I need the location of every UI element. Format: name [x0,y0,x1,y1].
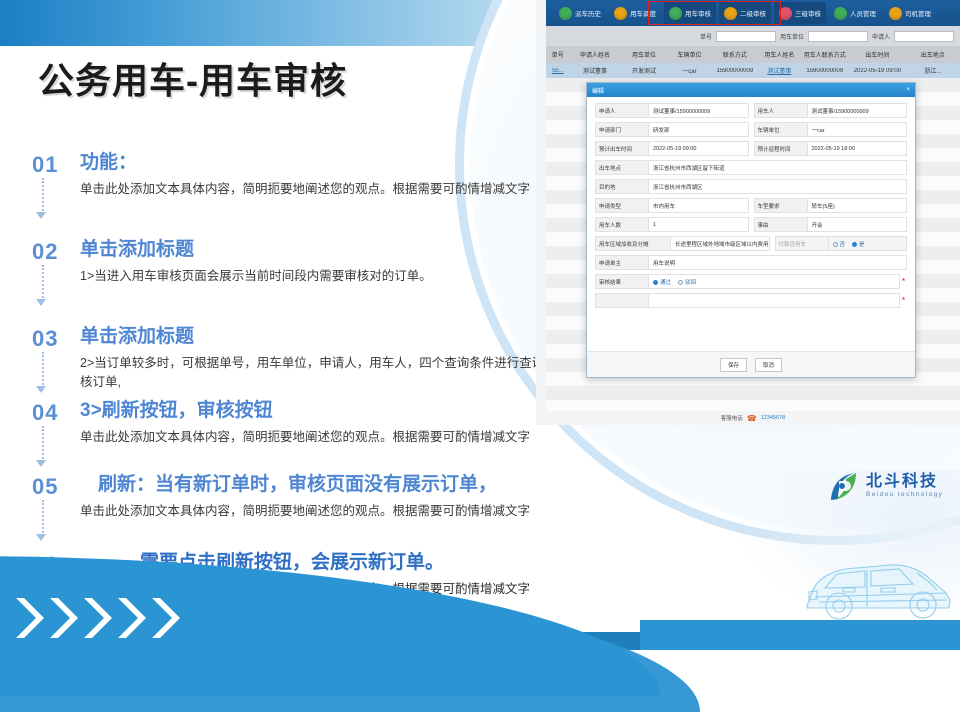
chevron-decoration [14,592,214,644]
field-label: 用车区域加收及分摊 [595,236,671,251]
bullet-connector [42,352,44,388]
bullet-arrow-icon [36,534,46,541]
field-label: 付款否用车 [775,236,829,251]
field-label: 申请类型 [595,198,649,213]
brand-logo: 北斗科技 Beidou technology [826,465,956,507]
table-cell-order-no[interactable]: 5b... [546,68,570,74]
table-cell-depart-time: 2022-05-19 09:00 [849,68,905,74]
table-header-row: 单号 申请人姓名 用车单位 车辆单位 联系方式 用车人姓名 用车人联系方式 出车… [546,46,960,63]
nav-label: 司机管理 [905,8,931,18]
bullet-connector [42,500,44,536]
form-row: 目的地 浙江省杭州市西湖区 [595,179,907,194]
form-row: * [595,293,907,308]
cancel-button[interactable]: 取消 [755,358,782,372]
field-label [595,293,649,308]
bullet-connector [42,426,44,462]
form-row: 用车区域加收及分摊 长途里程区域外地域市级区域以内费用 付款否用车 否 是 [595,236,907,251]
bullet-number: 03 [32,326,58,352]
field-value[interactable]: 2022-05-19 18:00 [808,141,908,156]
table-cell-depart-place: 浙江... [906,66,960,75]
field-value[interactable]: 用车说明 [649,255,907,270]
table-cell-applicant: 测试董事 [570,66,621,75]
page-title: 公务用车-用车审核 [38,52,347,104]
bullet-connector [42,265,44,301]
form-row: 预计出车时间 2022-05-19 09:00 预计返程时间 2022-05-1… [595,141,907,156]
table-cell-unit: 开发测试 [620,66,667,75]
bullet-number: 04 [32,400,58,426]
form-row: 出车地点 浙江省杭州市西湖区留下街道 [595,160,907,175]
bullet-connector [42,178,44,214]
field-value[interactable]: 1 [649,217,749,232]
nav-item-staff-management[interactable]: 人员管理 [829,2,881,24]
field-value[interactable]: 长途里程区域外地域市级区域以内费用 [671,236,770,251]
nav-item-level3-audit[interactable]: 三级审核 [774,2,826,24]
list-item: 04 3>刷新按钮，审核按钮 单击此处添加文本具体内容，简明扼要地阐述您的观点。… [22,400,542,447]
filter-input-applicant[interactable] [894,31,954,42]
field-paid-use: 付款否用车 否 是 [775,236,907,251]
list-item: 05 刷新：当有新订单时，审核页面没有展示订单， 单击此处添加文本具体内容，简明… [22,474,542,521]
list-icon [614,7,627,20]
field-remark: * [595,293,907,308]
list-item: 02 单击添加标题 1>当进入用车审核页面会展示当前时间段内需要审核对的订单。 [22,239,542,286]
nav-item-dispatch-history[interactable]: 派车历史 [554,2,606,24]
table-cell-passenger: 测试董事 [758,66,800,75]
footer-phone: 12345678 [761,415,785,421]
form-row: 用车人数 1 事由 开会 [595,217,907,232]
field-value[interactable]: 开会 [808,217,908,232]
logo-mark-icon [826,469,860,503]
field-label: 事由 [754,217,808,232]
field-label: 审核结果 [595,274,649,289]
table-row[interactable]: 5b... 测试董事 开发测试 一car 15900000009 测试董事 15… [546,63,960,78]
field-label: 申请单主 [595,255,649,270]
field-return-time: 预计返程时间 2022-05-19 18:00 [754,141,908,156]
form-row: 审核结果 通过 驳回 * [595,274,907,289]
nav-label: 三级审核 [795,8,821,18]
field-value[interactable]: 一car [808,122,908,137]
nav-label: 人员管理 [850,8,876,18]
field-applicant: 申请人 测试董事/15900000009 [595,103,749,118]
save-button[interactable]: 保存 [720,358,747,372]
bottom-right-accent [640,620,960,650]
dialog-footer: 保存 取消 [587,351,915,377]
field-department: 申请部门 研发部 [595,122,749,137]
bullet-body: 单击此处添加文本具体内容，简明扼要地阐述您的观点。根据需要可酌情增减文字 [80,502,542,521]
bullet-arrow-icon [36,386,46,393]
table-header-cell: 用车人姓名 [758,50,800,59]
bullet-heading: 功能： [80,152,542,174]
table-cell-vehicle-unit: 一car [668,66,712,75]
field-vehicle-type: 车型要求 轿车(5座) [754,198,908,213]
field-value[interactable]: 研发部 [649,122,749,137]
car-illustration [795,540,960,632]
field-passenger: 用车人 测试董事/15900000009 [754,103,908,118]
field-radio-group[interactable]: 否 是 [829,236,907,251]
field-radio-group[interactable]: 通过 驳回 [649,274,900,289]
filter-input-order-no[interactable] [716,31,776,42]
field-depart-place: 出车地点 浙江省杭州市西湖区留下街道 [595,160,907,175]
filter-label-unit: 用车单位 [780,32,804,41]
field-area-allocation: 用车区域加收及分摊 长途里程区域外地域市级区域以内费用 [595,236,770,251]
field-label: 申请人 [595,103,649,118]
phone-icon: ☎ [747,414,757,423]
logo-text-cn: 北斗科技 [866,474,943,491]
field-value[interactable]: 浙江省杭州市西湖区留下街道 [649,160,907,175]
field-label: 用车人 [754,103,808,118]
table-header-cell: 车辆单位 [668,50,712,59]
dialog-title-bar: 编辑 × [587,83,915,97]
field-label: 目的地 [595,179,649,194]
footer-text: 客服电话 [721,414,743,422]
field-passenger-count: 用车人数 1 [595,217,749,232]
table-header-cell: 单号 [546,50,570,59]
nav-label: 派车历史 [575,8,601,18]
field-label: 预计出车时间 [595,141,649,156]
filter-label-applicant: 申请人 [872,32,890,41]
bullet-number: 02 [32,239,58,265]
field-destination: 目的地 浙江省杭州市西湖区 [595,179,907,194]
field-label: 车型要求 [754,198,808,213]
required-marker: * [900,293,907,308]
field-value[interactable]: 测试董事/15900000009 [808,103,908,118]
field-label: 预计返程时间 [754,141,808,156]
bullet-body: 2>当订单较多时，可根据单号，用车单位，申请人，用车人，四个查询条件进行查询审核… [80,354,562,393]
table-cell-contact: 15900000009 [711,68,758,74]
bullet-heading: 3>刷新按钮，审核按钮 [80,400,542,422]
edit-dialog: 编辑 × 申请人 测试董事/15900000009 用车人 测试董事/15900… [586,82,916,378]
logo-text-en: Beidou technology [866,491,943,498]
field-audit-result: 审核结果 通过 驳回 * [595,274,907,289]
radio-pass[interactable]: 通过 [653,278,671,286]
app-footer: 客服电话 ☎ 12345678 [546,411,960,425]
nav-item-driver-management[interactable]: 司机管理 [884,2,936,24]
table-header-cell: 用车人联系方式 [800,50,849,59]
field-label: 申请部门 [595,122,649,137]
form-row: 申请人 测试董事/15900000009 用车人 测试董事/1590000000… [595,103,907,118]
list-item: 03 单击添加标题 2>当订单较多时，可根据单号，用车单位，申请人，用车人，四个… [22,326,562,393]
field-vehicle-unit: 车辆单位 一car [754,122,908,137]
driver-icon [889,7,902,20]
table-header-cell: 出车时间 [849,50,905,59]
field-apply-type: 申请类型 市内用车 [595,198,749,213]
bullet-arrow-icon [36,212,46,219]
required-marker: * [900,274,907,289]
table-cell-passenger-contact: 15900000009 [800,68,849,74]
radio-no[interactable]: 否 [833,240,846,248]
form-row: 申请部门 研发部 车辆单位 一car [595,122,907,137]
dialog-body: 申请人 测试董事/15900000009 用车人 测试董事/1590000000… [587,97,915,308]
form-row: 申请单主 用车说明 [595,255,907,270]
bus-icon [559,7,572,20]
form-row: 申请类型 市内用车 车型要求 轿车(5座) [595,198,907,213]
close-icon[interactable]: × [906,87,910,93]
table-header-cell: 联系方式 [711,50,758,59]
bullet-number: 05 [32,474,58,500]
field-label: 出车地点 [595,160,649,175]
field-depart-time: 预计出车时间 2022-05-19 09:00 [595,141,749,156]
field-label: 用车人数 [595,217,649,232]
app-screenshot-panel: 派车历史 用车调度 用车审核 二级审核 三级审核 人员管理 [536,0,960,425]
bullet-arrow-icon [36,299,46,306]
bullet-arrow-icon [36,460,46,467]
radio-reject[interactable]: 驳回 [678,278,696,286]
bullet-heading: 单击添加标题 [80,239,542,261]
table-header-cell: 申请人姓名 [570,50,621,59]
bullet-body: 1>当进入用车审核页面会展示当前时间段内需要审核对的订单。 [80,267,542,286]
list-item: 01 功能： 单击此处添加文本具体内容，简明扼要地阐述您的观点。根据需要可酌情增… [22,152,542,199]
field-reason: 事由 开会 [754,217,908,232]
field-application-note: 申请单主 用车说明 [595,255,907,270]
filter-input-unit[interactable] [808,31,868,42]
user-icon [834,7,847,20]
table-header-cell: 用车单位 [620,50,667,59]
bullet-heading: 刷新：当有新订单时，审核页面没有展示订单， [80,474,542,496]
radio-yes[interactable]: 是 [852,240,865,248]
bullet-body: 单击此处添加文本具体内容，简明扼要地阐述您的观点。根据需要可酌情增减文字 [80,180,542,199]
dialog-title: 编辑 [592,86,604,95]
field-label: 车辆单位 [754,122,808,137]
filter-label-order-no: 单号 [700,32,712,41]
field-value[interactable] [649,293,900,308]
filter-bar: 单号 用车单位 申请人 [546,26,960,46]
table-header-cell: 出车地点 [906,50,960,59]
bullet-number: 01 [32,152,58,178]
highlight-annotation-box [648,1,781,25]
field-value[interactable]: 测试董事/15900000009 [649,103,749,118]
field-value[interactable]: 浙江省杭州市西湖区 [649,179,907,194]
field-value[interactable]: 市内用车 [649,198,749,213]
bullet-heading: 单击添加标题 [80,326,562,348]
field-value[interactable]: 2022-05-19 09:00 [649,141,749,156]
bullet-body: 单击此处添加文本具体内容，简明扼要地阐述您的观点。根据需要可酌情增减文字 [80,428,542,447]
field-value[interactable]: 轿车(5座) [808,198,908,213]
